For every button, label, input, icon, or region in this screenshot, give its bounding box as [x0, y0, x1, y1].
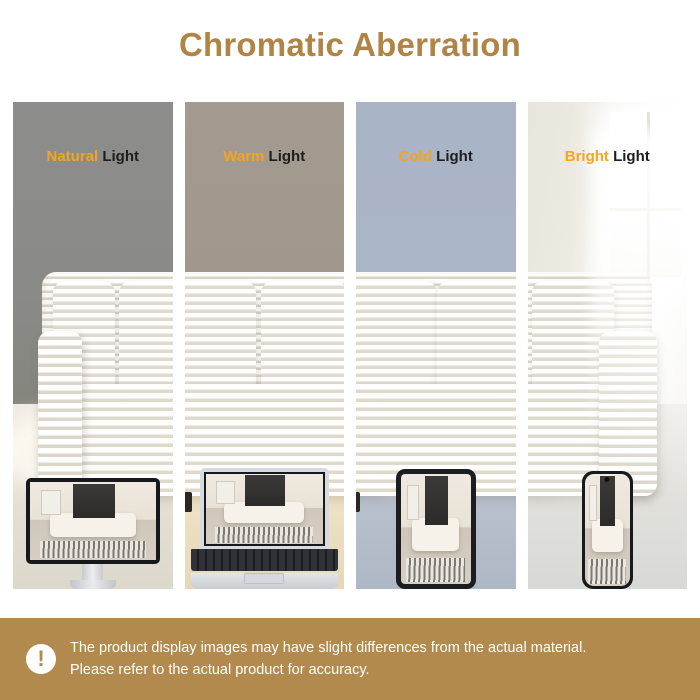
monitor-screen-content: [30, 482, 156, 560]
laptop-base: [191, 573, 338, 589]
monitor-frame: [26, 478, 160, 589]
panel-label-rest: Light: [609, 148, 650, 165]
scene-dark-wall: [600, 476, 615, 525]
scene-wall-art: [41, 490, 61, 515]
monitor-bezel: [26, 478, 160, 564]
disclaimer-line-1: The product display images may have slig…: [70, 637, 586, 659]
scene-dark-wall: [245, 475, 285, 506]
laptop-keyboard: [191, 549, 338, 571]
tablet-frame: [396, 469, 476, 589]
window-mullion-horizontal: [610, 208, 680, 211]
panel-label-accent: Bright: [565, 148, 609, 165]
phone-screen: [585, 474, 630, 586]
panel-label-warm: Warm Light: [185, 148, 345, 165]
disclaimer-text: The product display images may have slig…: [70, 637, 586, 682]
scene-dark-wall: [73, 484, 116, 518]
device-mockup-tablet: [356, 433, 516, 589]
panel-label-rest: Light: [264, 148, 305, 165]
lighting-comparison-panels: Natural Light: [13, 102, 687, 589]
panel-natural-light: Natural Light: [13, 102, 173, 589]
tablet-screen-content: [401, 474, 471, 584]
sofa-cushion: [261, 281, 344, 397]
panel-label-cold: Cold Light: [356, 148, 516, 165]
panel-cold-light: Cold Light: [356, 102, 516, 589]
scene-wall-art: [407, 485, 419, 520]
exclamation-glyph: !: [37, 648, 44, 670]
device-mockup-smartphone: [528, 433, 688, 589]
panel-label-natural: Natural Light: [13, 148, 173, 165]
device-mockup-desktop-monitor: [13, 433, 173, 589]
laptop-trackpad: [244, 573, 284, 584]
laptop-lid: [200, 468, 329, 549]
window-frame: [610, 112, 680, 278]
panel-label-accent: Natural: [46, 148, 98, 165]
sofa-cushion: [437, 281, 516, 397]
sofa-cushion: [356, 281, 437, 397]
scene-wall-art: [216, 481, 234, 504]
panel-label-accent: Warm: [223, 148, 264, 165]
sofa-cushion: [185, 281, 256, 397]
phone-camera-icon: [605, 477, 610, 482]
sofa-cushion: [119, 281, 173, 397]
phone-frame: [582, 471, 633, 589]
panel-label-rest: Light: [432, 148, 473, 165]
panel-label-accent: Cold: [399, 148, 432, 165]
scene-wall-art: [589, 485, 597, 521]
panel-warm-light: Warm Light: [185, 102, 345, 589]
disclaimer-banner: ! The product display images may have sl…: [0, 618, 700, 700]
tablet-screen: [401, 474, 471, 584]
device-mockup-laptop: [185, 433, 345, 589]
laptop-frame: [191, 468, 338, 589]
panel-label-rest: Light: [98, 148, 139, 165]
disclaimer-line-2: Please refer to the actual product for a…: [70, 659, 586, 681]
exclamation-circle-icon: !: [26, 644, 56, 674]
panel-label-bright: Bright Light: [528, 148, 688, 165]
phone-screen-content: [585, 474, 630, 586]
scene-dark-wall: [425, 476, 449, 524]
panel-bright-light: Bright Light: [528, 102, 688, 589]
laptop-bezel: [204, 472, 325, 546]
window-mullion-vertical: [647, 112, 650, 278]
monitor-stand-base: [70, 580, 116, 589]
laptop-screen-content: [206, 474, 323, 544]
monitor-stand-neck: [82, 564, 103, 580]
page-title: Chromatic Aberration: [0, 26, 700, 64]
